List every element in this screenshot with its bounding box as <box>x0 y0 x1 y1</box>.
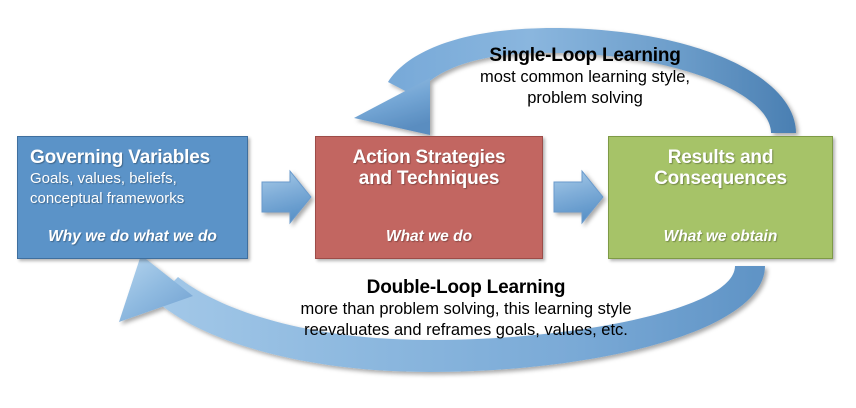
double-loop-learning-diagram: Governing Variables Goals, values, belie… <box>0 0 856 408</box>
single-loop-line2: problem solving <box>420 88 750 109</box>
chevron-arrow-governing-to-action <box>262 171 311 223</box>
results-consequences-title-line2: Consequences <box>621 168 820 189</box>
action-strategies-footer: What we do <box>328 228 530 250</box>
chevron-arrow-action-to-results <box>554 171 603 223</box>
governing-variables-title: Governing Variables <box>30 147 235 168</box>
box-results-consequences: Results and Consequences What we obtain <box>608 136 833 259</box>
double-loop-heading: Double-Loop Learning <box>228 276 704 299</box>
action-strategies-title-line1: Action Strategies <box>328 147 530 168</box>
action-strategies-title-line2: and Techniques <box>328 168 530 189</box>
results-consequences-footer: What we obtain <box>621 228 820 250</box>
governing-variables-subtitle-line2: conceptual frameworks <box>30 189 235 208</box>
double-loop-line1: more than problem solving, this learning… <box>228 299 704 320</box>
box-action-strategies: Action Strategies and Techniques What we… <box>315 136 543 259</box>
box-governing-variables: Governing Variables Goals, values, belie… <box>17 136 248 259</box>
governing-variables-subtitle-line1: Goals, values, beliefs, <box>30 169 235 188</box>
single-loop-heading: Single-Loop Learning <box>420 44 750 67</box>
governing-variables-footer: Why we do what we do <box>30 228 235 250</box>
results-consequences-title-line1: Results and <box>621 147 820 168</box>
double-loop-learning-label: Double-Loop Learning more than problem s… <box>228 276 704 341</box>
single-loop-line1: most common learning style, <box>420 67 750 88</box>
double-loop-line2: reevaluates and reframes goals, values, … <box>228 320 704 341</box>
single-loop-learning-label: Single-Loop Learning most common learnin… <box>420 44 750 109</box>
